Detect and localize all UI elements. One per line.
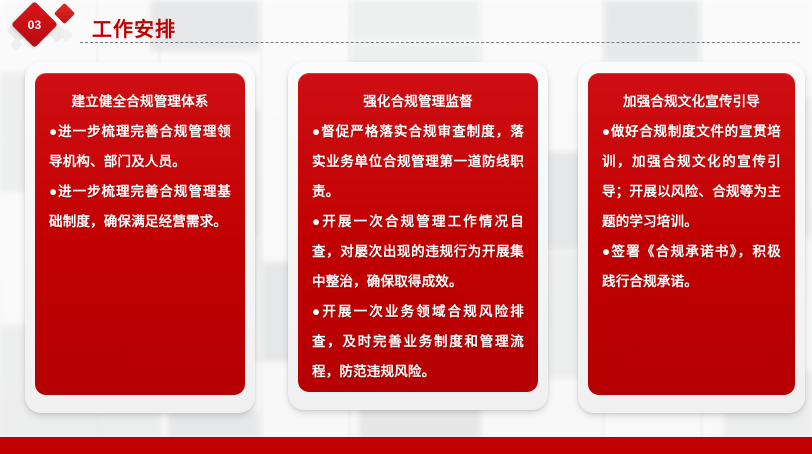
header-divider bbox=[80, 42, 800, 43]
content-card-3-paragraph-1: ●做好合规制度文件的宣贯培训，加强合规文化的宣传引导；开展以风险、合规等为主题的… bbox=[602, 117, 781, 237]
content-card-1-paragraph-2: ●进一步梳理完善合规管理基础制度，确保满足经营需求。 bbox=[49, 177, 231, 237]
page-title: 工作安排 bbox=[92, 13, 176, 42]
footer-bar bbox=[0, 437, 812, 454]
content-card-2-heading: 强化合规管理监督 bbox=[312, 87, 524, 117]
slide-canvas: 03 工作安排 建立健全合规管理体系 ●进一步梳理完善合规管理领导机构、部门及人… bbox=[0, 0, 812, 454]
slide-header: 03 工作安排 bbox=[0, 0, 812, 58]
content-card-2-paragraph-3: ●开展一次业务领域合规风险排查，及时完善业务制度和管理流程，防范违规风险。 bbox=[312, 297, 524, 387]
content-card-3-body: 加强合规文化宣传引导 ●做好合规制度文件的宣贯培训，加强合规文化的宣传引导；开展… bbox=[602, 87, 781, 297]
content-card-1-paragraph-1: ●进一步梳理完善合规管理领导机构、部门及人员。 bbox=[49, 117, 231, 177]
content-card-1-heading: 建立健全合规管理体系 bbox=[49, 87, 231, 117]
content-card-1-body: 建立健全合规管理体系 ●进一步梳理完善合规管理领导机构、部门及人员。 ●进一步梳… bbox=[49, 87, 231, 237]
content-card-1[interactable]: 建立健全合规管理体系 ●进一步梳理完善合规管理领导机构、部门及人员。 ●进一步梳… bbox=[25, 62, 255, 413]
content-card-3-paragraph-2: ●签署《合规承诺书》，积极践行合规承诺。 bbox=[602, 237, 781, 297]
content-card-3[interactable]: 加强合规文化宣传引导 ●做好合规制度文件的宣贯培训，加强合规文化的宣传引导；开展… bbox=[578, 62, 805, 413]
content-card-2-paragraph-1: ●督促严格落实合规审查制度，落实业务单位合规管理第一道防线职责。 bbox=[312, 117, 524, 207]
content-card-2[interactable]: 强化合规管理监督 ●督促严格落实合规审查制度，落实业务单位合规管理第一道防线职责… bbox=[288, 62, 548, 410]
content-card-3-panel: 加强合规文化宣传引导 ●做好合规制度文件的宣贯培训，加强合规文化的宣传引导；开展… bbox=[588, 73, 795, 395]
section-number-label: 03 bbox=[18, 8, 51, 41]
decorative-diamond-red-small bbox=[54, 3, 75, 24]
content-card-1-panel: 建立健全合规管理体系 ●进一步梳理完善合规管理领导机构、部门及人员。 ●进一步梳… bbox=[35, 73, 245, 395]
content-card-3-heading: 加强合规文化宣传引导 bbox=[602, 87, 781, 117]
content-card-2-paragraph-2: ●开展一次合规管理工作情况自查，对屡次出现的违规行为开展集中整治，确保取得成效。 bbox=[312, 207, 524, 297]
content-card-2-body: 强化合规管理监督 ●督促严格落实合规审查制度，落实业务单位合规管理第一道防线职责… bbox=[312, 87, 524, 387]
content-card-2-panel: 强化合规管理监督 ●督促严格落实合规审查制度，落实业务单位合规管理第一道防线职责… bbox=[298, 73, 538, 392]
